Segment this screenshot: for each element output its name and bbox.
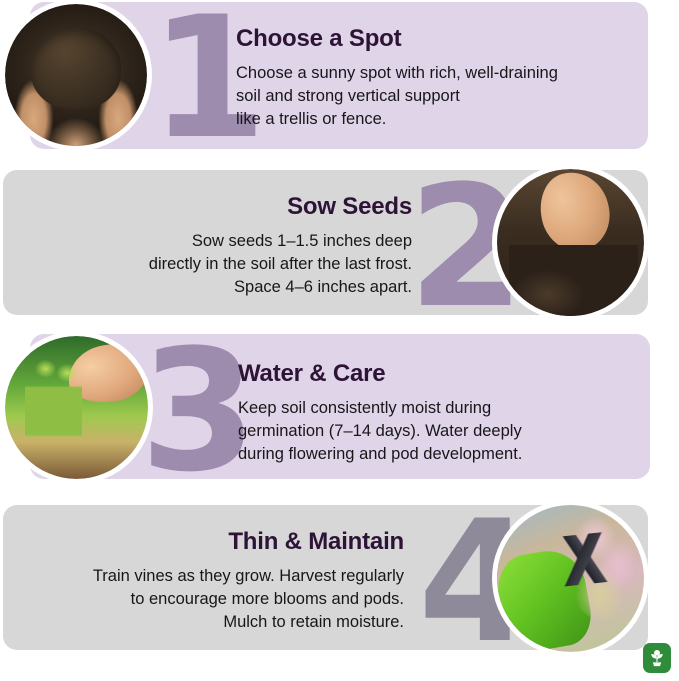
photo-gloved-hand-pruning — [497, 505, 644, 652]
step-2-title: Sow Seeds — [30, 193, 412, 221]
step-4-title: Thin & Maintain — [8, 528, 404, 556]
step-3-body: Keep soil consistently moist during germ… — [238, 397, 650, 465]
plant-sprout-logo-icon — [643, 643, 671, 673]
step-1-title: Choose a Spot — [236, 25, 648, 53]
photo-hand-sowing-seeds — [497, 169, 644, 316]
photo-watering-seedling — [5, 336, 148, 479]
step-4-body: Train vines as they grow. Harvest regula… — [8, 565, 404, 633]
step-2-body: Sow seeds 1–1.5 inches deep directly in … — [30, 230, 412, 298]
step-4-copy: Thin & Maintain Train vines as they grow… — [8, 528, 404, 633]
step-3-title: Water & Care — [238, 360, 650, 388]
step-2-copy: Sow Seeds Sow seeds 1–1.5 inches deep di… — [30, 193, 412, 298]
step-3-copy: Water & Care Keep soil consistently mois… — [238, 360, 650, 465]
step-1-body: Choose a sunny spot with rich, well-drai… — [236, 62, 648, 130]
photo-hands-holding-soil — [5, 4, 147, 146]
step-1-copy: Choose a Spot Choose a sunny spot with r… — [236, 25, 648, 130]
growing-guide-infographic: 1 Choose a Spot Choose a sunny spot with… — [0, 0, 679, 681]
